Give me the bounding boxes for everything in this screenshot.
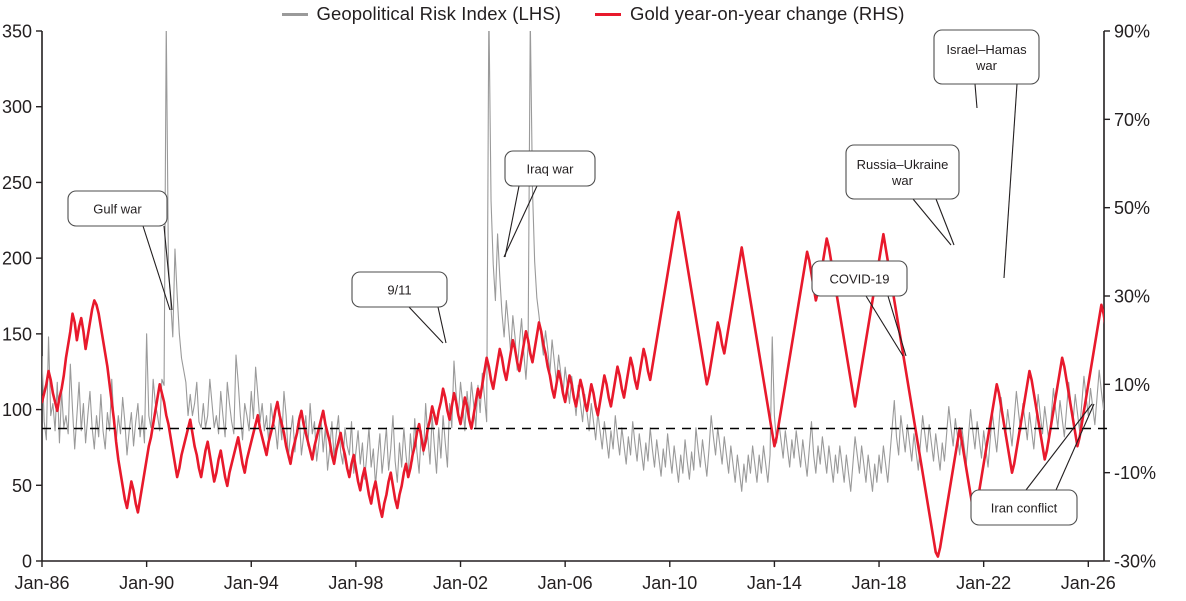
y-tick-label-left: 250 xyxy=(2,173,32,193)
x-tick-label: Jan-06 xyxy=(538,573,593,593)
x-tick-label: Jan-10 xyxy=(642,573,697,593)
x-tick-label: Jan-18 xyxy=(852,573,907,593)
chart-root: Geopolitical Risk Index (LHS) Gold year-… xyxy=(0,0,1186,601)
y-tick-label-right: -30% xyxy=(1114,552,1156,572)
annotation-box xyxy=(934,30,1039,84)
chart-series xyxy=(42,7,1186,557)
annotation-pointer xyxy=(505,186,519,257)
y-tick-label-left: 0 xyxy=(22,552,32,572)
y-tick-label-right: -10% xyxy=(1114,463,1156,483)
annotation-box xyxy=(846,145,959,199)
annotation-label: Gulf war xyxy=(93,202,142,217)
y-tick-label-right: 50% xyxy=(1114,198,1150,218)
annotation-label: COVID-19 xyxy=(830,272,890,287)
chart-canvas: 050100150200250300350-30%-10%10%30%50%70… xyxy=(0,0,1186,601)
x-tick-label: Jan-98 xyxy=(328,573,383,593)
y-tick-label-left: 100 xyxy=(2,400,32,420)
annotation-label: Iran conflict xyxy=(991,501,1058,516)
annotation-pointer xyxy=(409,307,443,343)
annotation-label: 9/11 xyxy=(387,283,411,298)
y-tick-label-left: 200 xyxy=(2,249,32,269)
annotation-pointer xyxy=(504,186,537,257)
y-tick-label-left: 350 xyxy=(2,22,32,42)
x-tick-label: Jan-90 xyxy=(119,573,174,593)
x-tick-label: Jan-22 xyxy=(956,573,1011,593)
x-tick-label: Jan-86 xyxy=(14,573,69,593)
x-tick-label: Jan-02 xyxy=(433,573,488,593)
annotation-label: Israel–Hamas xyxy=(946,42,1027,57)
annotation-label: war xyxy=(891,173,914,188)
y-tick-label-right: 90% xyxy=(1114,22,1150,42)
annotation-pointer xyxy=(143,226,170,310)
annotation-label: Russia–Ukraine xyxy=(857,157,949,172)
y-tick-label-right: 10% xyxy=(1114,375,1150,395)
x-tick-label: Jan-14 xyxy=(747,573,802,593)
y-tick-label-left: 300 xyxy=(2,97,32,117)
y-tick-label-left: 150 xyxy=(2,324,32,344)
annotation-pointer xyxy=(1004,84,1017,278)
annotation-pointer xyxy=(975,84,977,108)
y-tick-label-right: 30% xyxy=(1114,287,1150,307)
annotation-label: war xyxy=(975,58,998,73)
y-tick-label-right: 70% xyxy=(1114,110,1150,130)
annotation-label: Iraq war xyxy=(527,162,575,177)
y-tick-label-left: 50 xyxy=(12,476,32,496)
x-tick-label: Jan-94 xyxy=(224,573,279,593)
x-tick-label: Jan-26 xyxy=(1061,573,1116,593)
annotation-pointer xyxy=(438,307,446,343)
